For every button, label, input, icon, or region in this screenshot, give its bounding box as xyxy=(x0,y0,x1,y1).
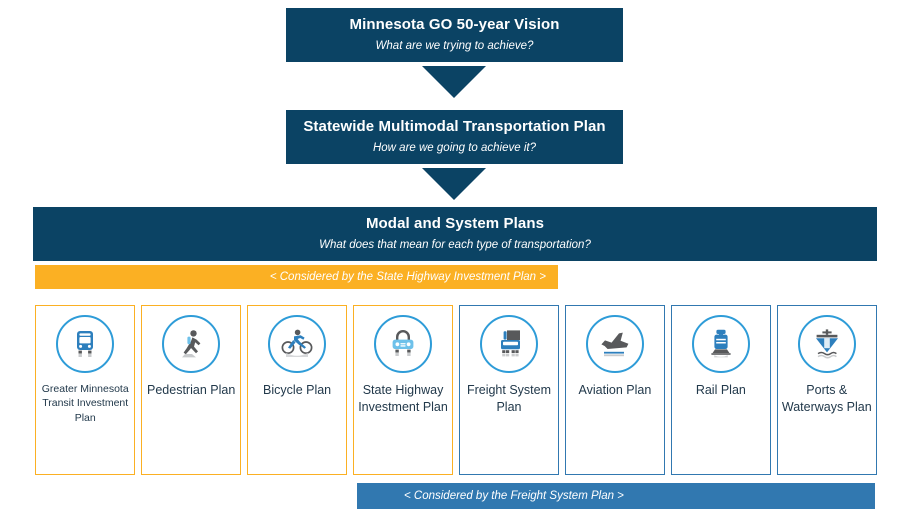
plan-card-label-pedestrian-plan: Pedestrian Plan xyxy=(144,382,238,399)
banner-freight-system-plan: < Considered by the Freight System Plan … xyxy=(357,483,875,509)
arrow-down-icon-smtp-to-modal xyxy=(422,168,486,200)
plan-card-aviation-plan[interactable]: Aviation Plan xyxy=(565,305,665,475)
plan-card-ports-waterways-plan[interactable]: Ports & Waterways Plan xyxy=(777,305,877,475)
plan-card-pedestrian-plan[interactable]: Pedestrian Plan xyxy=(141,305,241,475)
airplane-icon xyxy=(586,315,644,373)
plan-card-label-aviation-plan: Aviation Plan xyxy=(576,382,655,399)
plan-card-label-ports-waterways-plan: Ports & Waterways Plan xyxy=(778,382,876,415)
ship-icon xyxy=(798,315,856,373)
train-icon xyxy=(692,315,750,373)
plan-card-bicycle-plan[interactable]: Bicycle Plan xyxy=(247,305,347,475)
level-box-vision: Minnesota GO 50-year Vision What are we … xyxy=(286,8,623,62)
plan-card-freight-system-plan[interactable]: Freight System Plan xyxy=(459,305,559,475)
banner-state-highway-investment-plan: < Considered by the State Highway Invest… xyxy=(35,265,558,289)
plan-card-greater-minnesota-transit-investment-plan[interactable]: Greater Minnesota Transit Investment Pla… xyxy=(35,305,135,475)
plan-card-label-freight-system-plan: Freight System Plan xyxy=(460,382,558,415)
diagram-canvas: Minnesota GO 50-year Vision What are we … xyxy=(0,0,905,521)
level-box-smtp: Statewide Multimodal Transportation Plan… xyxy=(286,110,623,164)
plan-card-rail-plan[interactable]: Rail Plan xyxy=(671,305,771,475)
level-title-modal: Modal and System Plans xyxy=(366,215,544,233)
plan-card-label-rail-plan: Rail Plan xyxy=(693,382,749,399)
level-subtitle-smtp: How are we going to achieve it? xyxy=(373,142,536,156)
banner-freight-label: < Considered by the Freight System Plan … xyxy=(404,490,624,502)
car-highway-icon xyxy=(374,315,432,373)
level-subtitle-vision: What are we trying to achieve? xyxy=(376,40,534,54)
pedestrian-walking-icon xyxy=(162,315,220,373)
bicycle-icon xyxy=(268,315,326,373)
arrow-down-icon-vision-to-smtp xyxy=(422,66,486,98)
plan-card-label-state-highway-investment-plan: State Highway Investment Plan xyxy=(354,382,452,415)
transit-bus-icon xyxy=(56,315,114,373)
level-subtitle-modal: What does that mean for each type of tra… xyxy=(319,239,591,253)
modal-plan-card-strip: Greater Minnesota Transit Investment Pla… xyxy=(35,305,877,475)
level-title-smtp: Statewide Multimodal Transportation Plan xyxy=(303,118,605,136)
plan-card-label-greater-minnesota-transit-investment-plan: Greater Minnesota Transit Investment Pla… xyxy=(36,382,134,425)
plan-card-label-bicycle-plan: Bicycle Plan xyxy=(260,382,334,399)
plan-card-state-highway-investment-plan[interactable]: State Highway Investment Plan xyxy=(353,305,453,475)
level-box-modal-system-plans: Modal and System Plans What does that me… xyxy=(33,207,877,261)
level-title-vision: Minnesota GO 50-year Vision xyxy=(350,16,560,34)
banner-state-highway-label: < Considered by the State Highway Invest… xyxy=(270,271,546,283)
freight-truck-icon xyxy=(480,315,538,373)
